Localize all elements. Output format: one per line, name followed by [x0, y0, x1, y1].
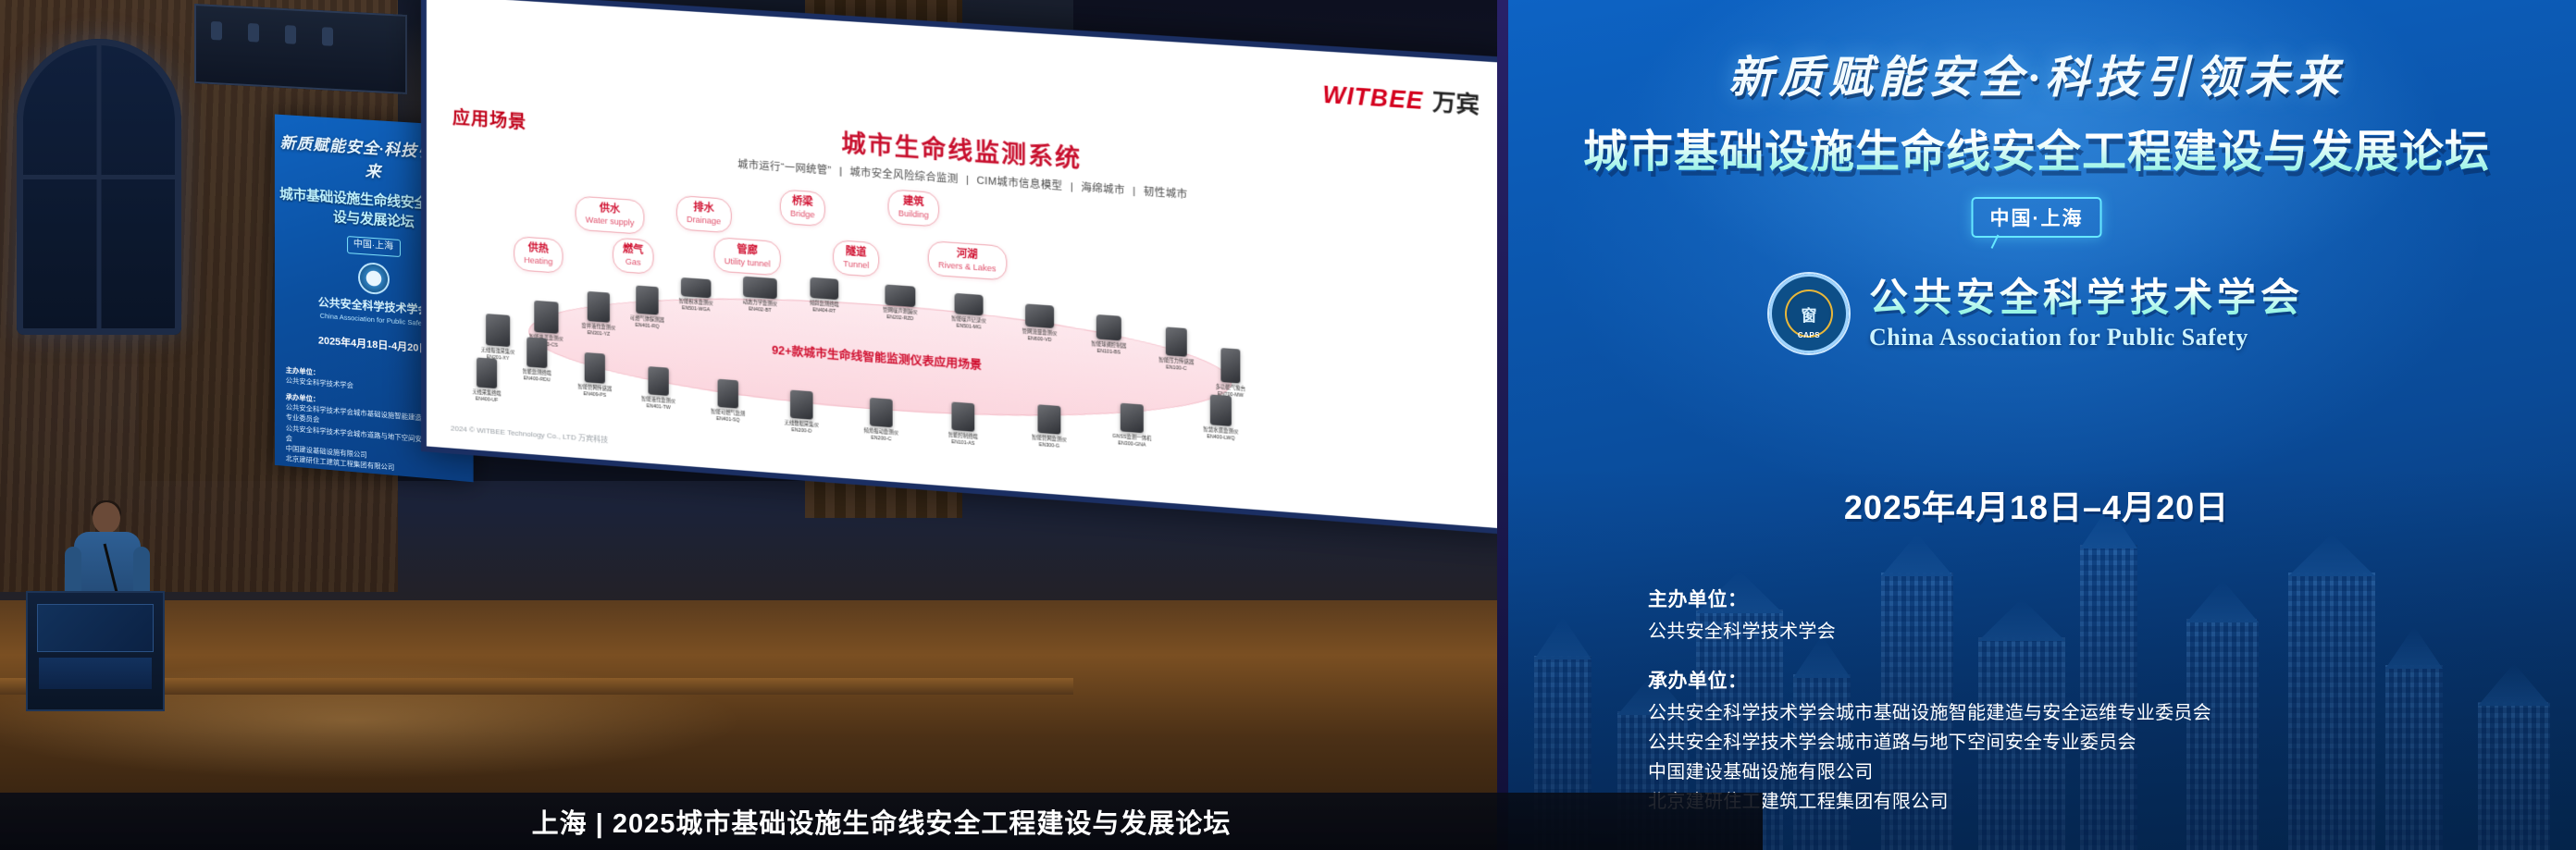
banner-title: 城市基础设施生命线安全工程建设与发展论坛 — [1497, 115, 2576, 179]
speaker-head — [93, 502, 120, 534]
device-image — [477, 357, 497, 388]
witbee-logo: WITBEE 万宾 — [1322, 76, 1480, 119]
device-image — [951, 401, 974, 431]
banner-organizer-line: 公共安全科学技术学会城市道路与地下空间安全专业委员会 — [1648, 727, 2211, 754]
device-image — [636, 286, 658, 315]
device-item: 智能控制终端EN101-AS — [928, 400, 998, 449]
device-image — [1096, 314, 1121, 340]
device-image — [810, 277, 838, 300]
banner-organizer-heading: 承办单位： — [1648, 666, 2211, 694]
device-item: 智能积水监测仪EN501-WGA — [662, 276, 731, 314]
banner-organizer-line: 中国建设基础设施有限公司 — [1648, 757, 2211, 783]
slide-subtitle-item: 韧性城市 — [1144, 187, 1188, 201]
banner-date: 2025年4月18日–4月20日 — [1497, 481, 2576, 529]
device-image — [885, 284, 915, 307]
stage-lamp — [285, 25, 296, 44]
floor-reflection — [0, 656, 1110, 795]
device-image — [585, 352, 605, 384]
banner-location-chip: 中国·上海 — [1972, 197, 2102, 238]
screen-frame: WITBEE 万宾 应用场景 城市生命线监测系统 城市运行“一网统管”|城市安全… — [421, 0, 1519, 536]
slide-surface: WITBEE 万宾 应用场景 城市生命线监测系统 城市运行“一网统管”|城市安全… — [427, 0, 1513, 529]
device-image — [1210, 394, 1232, 425]
lighting-truss — [194, 4, 407, 94]
device-image — [1025, 303, 1054, 328]
device-image — [534, 301, 558, 334]
device-item: 智能可燃气监测EN401-SQ — [693, 377, 762, 425]
device-image — [526, 337, 547, 368]
device-image — [870, 398, 893, 427]
banner-organizer-block: 主办单位： 公共安全科学技术学会 承办单位： 公共安全科学技术学会城市基础设施智… — [1648, 585, 2211, 816]
slide-subtitle-item: 城市运行“一网统管” — [737, 159, 831, 177]
arched-window — [17, 39, 181, 335]
side-banner-location-chip: 中国·上海 — [347, 236, 401, 257]
subtitle-separator: | — [966, 175, 969, 186]
device-image — [790, 390, 813, 420]
device-image — [588, 291, 610, 323]
device-image — [648, 366, 668, 396]
scenario-bubble-cn: 桥梁 — [790, 195, 815, 210]
scenario-bubble: 供水Water supply — [576, 195, 645, 234]
association-names: 公共安全科学技术学会 China Association for Public … — [1869, 276, 2304, 351]
side-banner-seal-icon — [360, 264, 388, 293]
banner-host-heading: 主办单位： — [1648, 585, 2211, 612]
scenario-bubble-en: Bridge — [790, 208, 815, 220]
scenario-bubble: 桥梁Bridge — [780, 189, 825, 227]
scenario-bubble-en: Water supply — [586, 215, 635, 228]
organizer-spacer — [1648, 646, 2211, 666]
device-item: 倾斜监测终端EN404-RT — [789, 276, 860, 316]
device-image — [955, 293, 984, 316]
slide-subtitle-item: 海绵城市 — [1081, 182, 1124, 196]
scenario-bubble: 建筑Building — [888, 189, 940, 227]
stage-lamp — [248, 23, 259, 43]
stage-lamp — [322, 27, 333, 46]
caption-text: 上海 | 2025城市基础设施生命线安全工程建设与发展论坛 — [532, 802, 1232, 841]
device-image — [718, 379, 738, 409]
banner-headline: 新质赋能安全·科技引领未来 — [1497, 41, 2576, 105]
stage-lamp — [211, 21, 222, 41]
device-item: 多功能气象台EN700-MW — [1195, 346, 1267, 400]
device-item: 智慧水质监测仪EN400-LWQ — [1185, 392, 1257, 443]
device-item: 智能管网监测仪EN300-G — [1014, 402, 1085, 451]
scenario-bubble-en: Building — [898, 208, 929, 221]
speaker-podium — [26, 591, 165, 711]
banner-host-line: 公共安全科学技术学会 — [1648, 616, 2211, 643]
device-image — [1166, 326, 1187, 356]
device-image — [743, 277, 777, 300]
conference-stage-photo: 新质赋能安全·科技引领未来 城市基础设施生命线安全工程建设与发展论坛 中国·上海… — [0, 0, 2576, 850]
banner-association-block: 窗 CAPS 公共安全科学技术学会 China Association for … — [1497, 274, 2576, 353]
subtitle-separator: | — [1133, 186, 1135, 197]
device-image — [1220, 348, 1240, 383]
association-name-cn: 公共安全科学技术学会 — [1869, 276, 2304, 320]
banner-organizer-line: 公共安全科学技术学会城市基础设施智能建造与安全运维专业委员会 — [1648, 697, 2211, 724]
device-item: 管网噪声测漏仪EN202-RZD — [865, 283, 935, 324]
slide-subtitle-item: CIM城市信息模型 — [976, 175, 1062, 191]
caption-bar: 上海 | 2025城市基础设施生命线安全工程建设与发展论坛 — [0, 793, 1763, 850]
scenario-bubble-en: Drainage — [687, 215, 721, 228]
caps-seal-icon: 窗 CAPS — [1769, 274, 1849, 353]
witbee-logo-en: WITBEE — [1322, 81, 1423, 116]
podium-nameplate — [39, 658, 152, 689]
device-item: 无线数据采集仪EN200-D — [767, 388, 837, 437]
association-name-en: China Association for Public Safety — [1869, 324, 2304, 351]
caps-seal-caption: CAPS — [1769, 331, 1849, 339]
device-item: 倾角振动监测仪EN200-C — [846, 396, 916, 444]
device-image — [1121, 403, 1144, 433]
device-item: 智能噪声记录仪EN501-MG — [934, 291, 1004, 332]
device-item: 智能液位监测仪EN401-TW — [624, 364, 693, 413]
device-image — [1037, 404, 1060, 434]
slide-copyright: 2024 © WITBEE Technology Co., LTD 万宾科技 — [451, 423, 608, 445]
projection-screen: WITBEE 万宾 应用场景 城市生命线监测系统 城市运行“一网统管”|城市安全… — [421, 0, 1519, 536]
scenario-bubble: 排水Drainage — [676, 195, 731, 233]
device-item: 无线采集终端EN400-UF — [452, 356, 521, 406]
slide-subtitle-item: 城市安全风险综合监测 — [849, 166, 958, 185]
subtitle-separator: | — [1071, 181, 1073, 192]
podium-monitor — [37, 604, 154, 652]
witbee-logo-cn: 万宾 — [1432, 83, 1480, 119]
device-item: GNSS监测一体机EN300-GNA — [1096, 401, 1168, 450]
device-item: 动态力学监测仪EN402-BT — [725, 275, 795, 315]
device-image — [681, 277, 712, 298]
device-item: 管网流量监测仪EN600-VD — [1004, 302, 1075, 345]
device-item: 智能球阀控制器EN101-BS — [1073, 313, 1145, 357]
conference-banner: 新质赋能安全·科技引领未来 城市基础设施生命线安全工程建设与发展论坛 中国·上海… — [1497, 0, 2576, 850]
subtitle-separator: | — [839, 166, 842, 177]
